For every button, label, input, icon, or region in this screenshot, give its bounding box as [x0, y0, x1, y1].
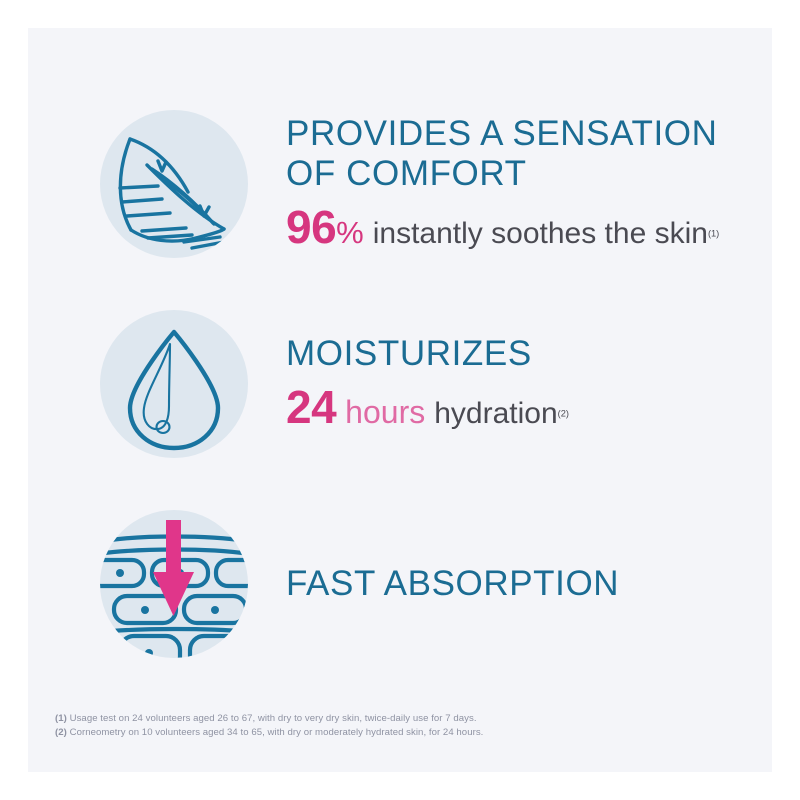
water-drop-icon	[100, 310, 248, 458]
footnote-item: (1) Usage test on 24 volunteers aged 26 …	[55, 712, 483, 726]
footnote-text-2: Corneometry on 10 volunteers aged 34 to …	[70, 727, 484, 738]
benefit-row-moisturize: MOISTURIZES 24hourshydration(2)	[100, 310, 569, 458]
benefit-text-absorption: FAST ABSORPTION	[286, 564, 619, 604]
claim-tail-moisturize: hydration	[434, 397, 557, 430]
benefit-row-comfort: PROVIDES A SENSATION OF COMFORT 96%insta…	[100, 110, 719, 258]
claim-unit-comfort: %	[336, 215, 364, 250]
footnote-marker-2: (2)	[55, 727, 67, 738]
benefit-title-moisturize: MOISTURIZES	[286, 334, 569, 374]
benefit-title-comfort: PROVIDES A SENSATION OF COMFORT	[286, 114, 719, 193]
claim-unit-moisturize: hours	[345, 394, 425, 430]
benefit-claim-moisturize: 24hourshydration(2)	[286, 380, 569, 434]
footnote-marker-1: (1)	[55, 713, 67, 724]
footnote-item: (2) Corneometry on 10 volunteers aged 34…	[55, 726, 483, 740]
claim-number-moisturize: 24	[286, 381, 336, 433]
footnote-text-1: Usage test on 24 volunteers aged 26 to 6…	[70, 713, 477, 724]
benefit-title-absorption: FAST ABSORPTION	[286, 564, 619, 604]
benefit-text-comfort: PROVIDES A SENSATION OF COMFORT 96%insta…	[286, 114, 719, 254]
benefit-row-absorption: FAST ABSORPTION	[100, 510, 619, 658]
benefit-claim-comfort: 96%instantly soothes the skin(1)	[286, 200, 719, 254]
skin-layers-arrow-icon	[100, 510, 248, 658]
infographic-canvas: PROVIDES A SENSATION OF COMFORT 96%insta…	[28, 28, 772, 772]
claim-number-comfort: 96	[286, 201, 336, 253]
benefit-text-moisturize: MOISTURIZES 24hourshydration(2)	[286, 334, 569, 435]
feather-icon	[100, 110, 248, 258]
claim-tail-comfort: instantly soothes the skin	[373, 217, 708, 250]
footnotes: (1) Usage test on 24 volunteers aged 26 …	[55, 712, 483, 740]
claim-footnote-ref-moisturize: (2)	[558, 409, 569, 419]
claim-footnote-ref-comfort: (1)	[708, 229, 719, 239]
